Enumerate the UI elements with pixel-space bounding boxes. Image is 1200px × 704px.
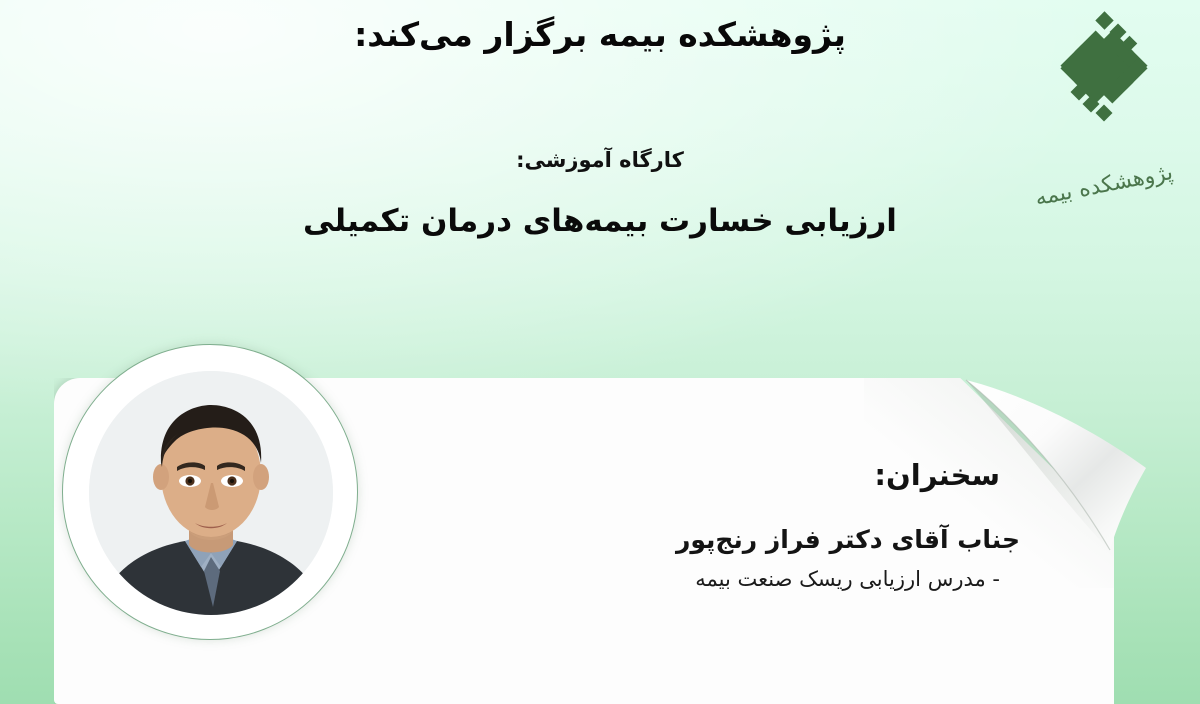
speaker-role: - مدرس ارزیابی ریسک صنعت بیمه bbox=[695, 567, 1000, 591]
organizer-headline: پژوهشکده بیمه برگزار می‌کند: bbox=[0, 14, 1200, 55]
workshop-title: ارزیابی خسارت بیمه‌های درمان تکمیلی bbox=[0, 203, 1200, 239]
speaker-name: جناب آقای دکتر فراز رنج‌پور bbox=[676, 525, 1020, 554]
avatar: portrait bbox=[89, 371, 333, 615]
speaker-label: سخنران: bbox=[874, 458, 1000, 492]
workshop-label: کارگاه آموزشی: bbox=[0, 148, 1200, 172]
event-poster: پژوهشکده بیمه برگزار می‌کند: کارگاه آموز… bbox=[0, 0, 1200, 704]
diamond-logo-icon bbox=[1045, 8, 1163, 126]
logo: پژوهشکده بیمه bbox=[1028, 4, 1180, 204]
speaker-avatar-frame: portrait bbox=[62, 344, 358, 640]
